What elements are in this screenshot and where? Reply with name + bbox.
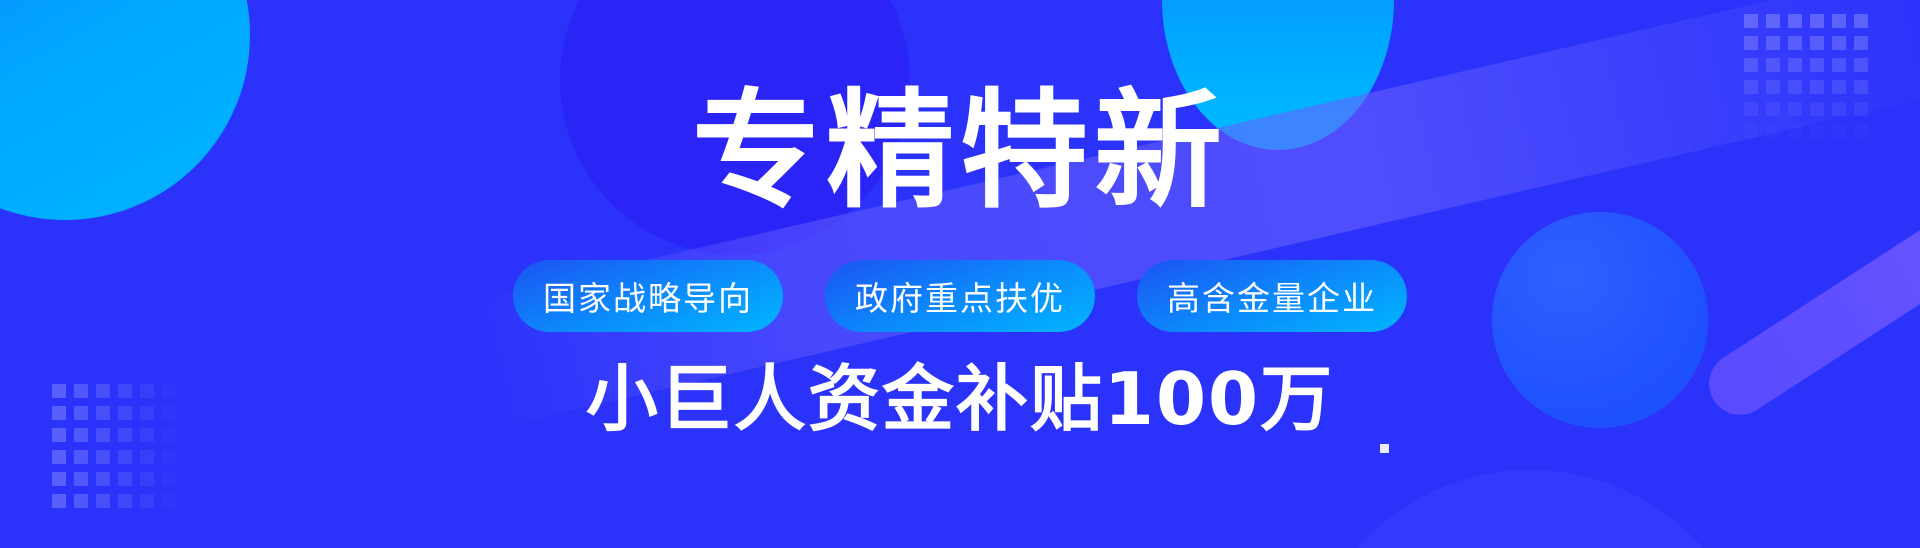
banner-content: 专精特新 国家战略导向 政府重点扶优 高含金量企业 小巨人资金补贴100万: [0, 0, 1920, 548]
banner-sub-headline: 小巨人资金补贴100万: [586, 362, 1334, 438]
feature-pill-2[interactable]: 政府重点扶优: [825, 260, 1095, 332]
banner-main-title: 专精特新: [692, 88, 1228, 216]
feature-pill-1-label: 国家战略导向: [543, 272, 753, 320]
feature-pill-3-label: 高含金量企业: [1167, 272, 1377, 320]
feature-pill-3[interactable]: 高含金量企业: [1137, 260, 1407, 332]
feature-pill-1[interactable]: 国家战略导向: [513, 260, 783, 332]
promo-banner: 专精特新 国家战略导向 政府重点扶优 高含金量企业 小巨人资金补贴100万: [0, 0, 1920, 548]
feature-pill-2-label: 政府重点扶优: [855, 272, 1065, 320]
feature-pill-row: 国家战略导向 政府重点扶优 高含金量企业: [513, 260, 1407, 332]
